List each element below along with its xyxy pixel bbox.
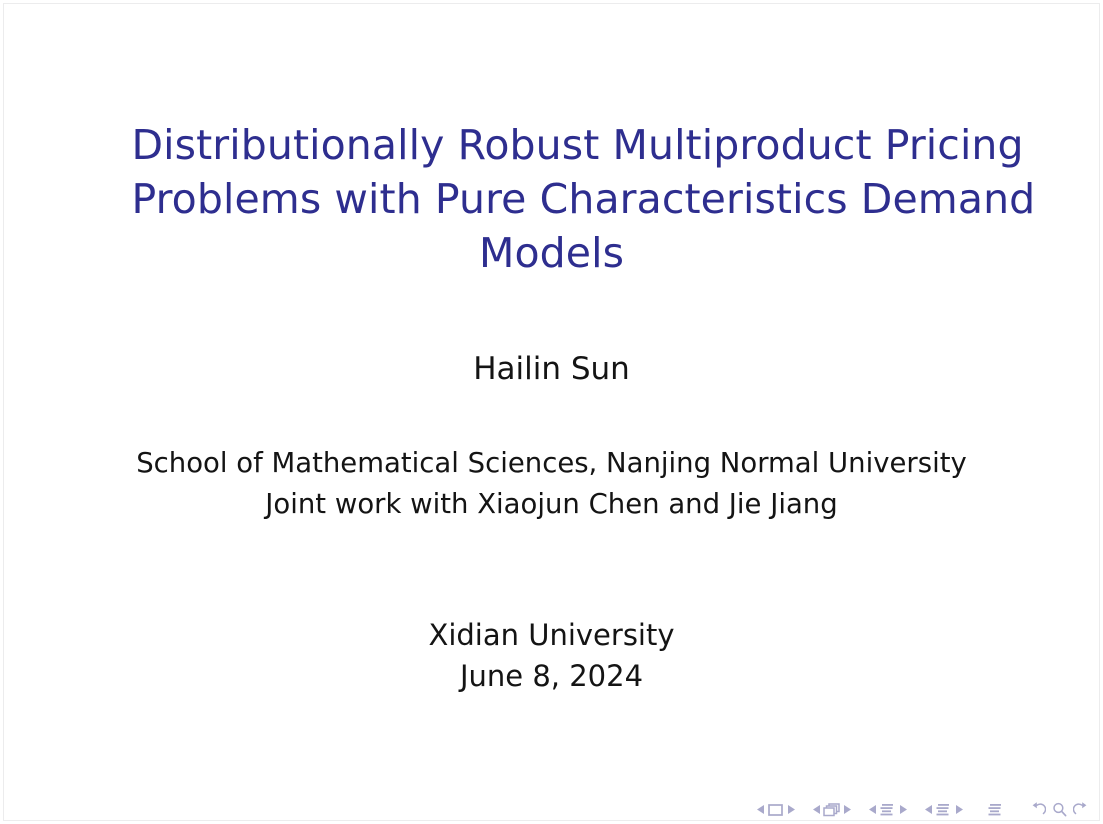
author-name: Hailin Sun	[152, 348, 952, 390]
author-block: Hailin Sun	[152, 348, 952, 390]
subsection-navigation-group[interactable]	[866, 801, 909, 818]
triangle-left-icon[interactable]	[754, 801, 767, 818]
triangle-right-icon[interactable]	[784, 801, 797, 818]
triangle-right-icon[interactable]	[896, 801, 909, 818]
presentation-navigation-group[interactable]	[987, 801, 1004, 818]
stacked-frames-icon[interactable]	[823, 801, 840, 818]
section-lines-icon[interactable]	[935, 801, 952, 818]
tools-group[interactable]	[1030, 801, 1089, 818]
date-block: Xidian University June 8, 2024	[152, 615, 952, 697]
subsection-lines-icon[interactable]	[879, 801, 896, 818]
institute-line-1: School of Mathematical Sciences, Nanjing…	[102, 443, 1002, 484]
triangle-left-icon[interactable]	[810, 801, 823, 818]
title-line-3: Models	[132, 226, 972, 280]
title-line-2: Problems with Pure Characteristics Deman…	[132, 172, 972, 226]
institute-line-2: Joint work with Xiaojun Chen and Jie Jia…	[102, 484, 1002, 525]
presentation-slide: Distributionally Robust Multiproduct Pri…	[0, 0, 1103, 824]
page-title: Distributionally Robust Multiproduct Pri…	[132, 118, 972, 280]
triangle-right-icon[interactable]	[952, 801, 965, 818]
triangle-left-icon[interactable]	[922, 801, 935, 818]
slide-content: Distributionally Robust Multiproduct Pri…	[0, 0, 1103, 824]
section-navigation-group[interactable]	[922, 801, 965, 818]
title-line-1: Distributionally Robust Multiproduct Pri…	[132, 118, 972, 172]
date-text: June 8, 2024	[152, 656, 952, 697]
triangle-left-icon[interactable]	[866, 801, 879, 818]
document-lines-icon[interactable]	[987, 801, 1004, 818]
venue-text: Xidian University	[152, 615, 952, 656]
forward-arrow-icon[interactable]	[1072, 801, 1089, 818]
slide-frame-icon[interactable]	[767, 801, 784, 818]
beamer-navigation-bar[interactable]	[754, 801, 1089, 818]
triangle-right-icon[interactable]	[840, 801, 853, 818]
frame-navigation-group[interactable]	[810, 801, 853, 818]
back-arrow-icon[interactable]	[1030, 801, 1047, 818]
institute-block: School of Mathematical Sciences, Nanjing…	[102, 443, 1002, 525]
search-icon[interactable]	[1051, 801, 1068, 818]
slide-navigation-group[interactable]	[754, 801, 797, 818]
